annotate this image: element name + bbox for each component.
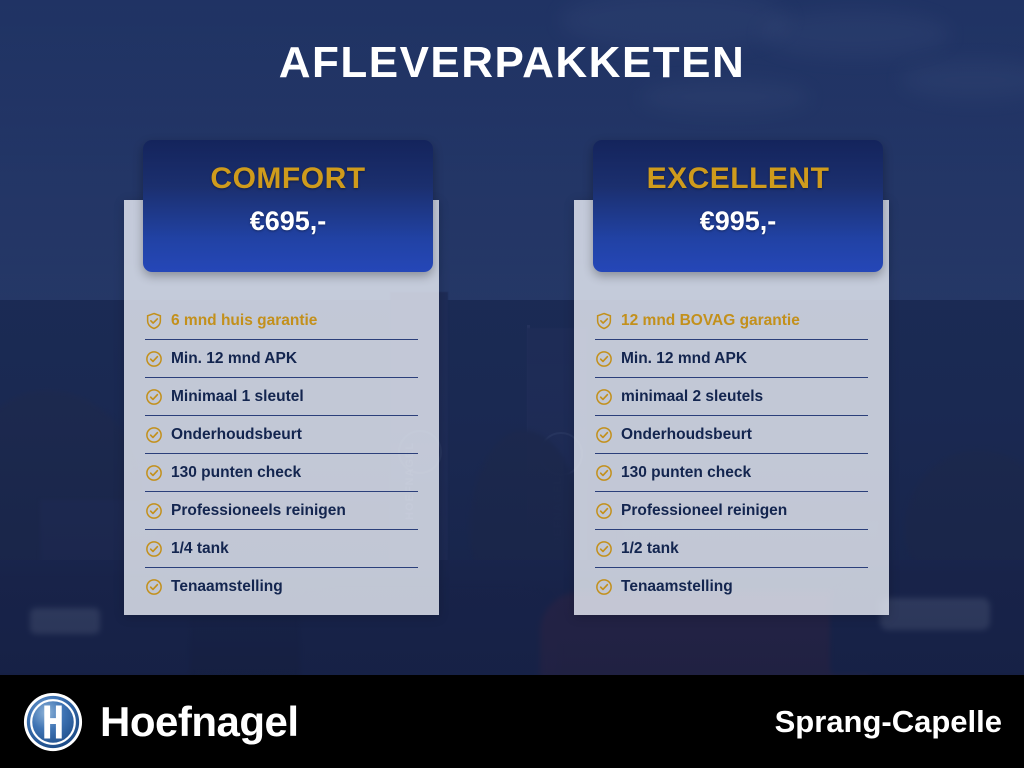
feature-label: Professioneel reinigen [621,502,787,520]
circle-check-icon [145,388,163,406]
list-item: 1/4 tank [145,530,418,568]
list-item: Minimaal 1 sleutel [145,378,418,416]
list-item: Min. 12 mnd APK [145,340,418,378]
feature-label: Tenaamstelling [171,578,283,596]
circle-check-icon [595,578,613,596]
circle-check-icon [595,350,613,368]
flag-text: HOEFNAGEL [552,355,564,555]
circle-check-icon [145,350,163,368]
list-item: 1/2 tank [595,530,868,568]
feature-label: Tenaamstelling [621,578,733,596]
flag-pole [444,370,447,670]
list-item: Onderhoudsbeurt [145,416,418,454]
list-item: Professioneels reinigen [145,492,418,530]
package-card-excellent[interactable]: EXCELLENT €995,- 12 mnd BOVAG garantie M… [574,200,889,615]
circle-check-icon [145,540,163,558]
package-header: EXCELLENT €995,- [593,140,883,272]
feature-label: 1/2 tank [621,540,679,558]
circle-check-icon [145,578,163,596]
hoefnagel-logo-icon [22,691,84,753]
footer-bar: Hoefnagel Sprang-Capelle [0,675,1024,768]
list-item: 6 mnd huis garantie [145,302,418,340]
feature-label: Professioneels reinigen [171,502,346,520]
circle-check-icon [595,426,613,444]
list-item: 130 punten check [145,454,418,492]
brand-block[interactable]: Hoefnagel [22,691,299,753]
package-price: €695,- [143,206,433,237]
feature-label: minimaal 2 sleutels [621,388,763,406]
tree-shape [905,450,1024,600]
package-header: COMFORT €695,- [143,140,433,272]
car-window [880,598,990,630]
feature-list: 12 mnd BOVAG garantie Min. 12 mnd APK mi… [595,302,868,606]
brand-name: Hoefnagel [100,698,299,746]
feature-label: 130 punten check [171,464,301,482]
circle-check-icon [595,540,613,558]
shield-check-icon [595,312,613,330]
tree-shape [0,390,140,590]
feature-label: 6 mnd huis garantie [171,312,317,330]
circle-check-icon [595,464,613,482]
list-item: 130 punten check [595,454,868,492]
circle-check-icon [145,502,163,520]
circle-check-icon [145,464,163,482]
feature-label: 12 mnd BOVAG garantie [621,312,800,330]
circle-check-icon [595,388,613,406]
feature-list: 6 mnd huis garantie Min. 12 mnd APK Mini… [145,302,418,606]
feature-label: Onderhoudsbeurt [621,426,752,444]
feature-label: Onderhoudsbeurt [171,426,302,444]
page-title: AFLEVERPAKKETEN [0,38,1024,88]
feature-label: 130 punten check [621,464,751,482]
car-window [30,608,100,634]
feature-label: 1/4 tank [171,540,229,558]
package-price: €995,- [593,206,883,237]
footer-location: Sprang-Capelle [775,704,1002,740]
list-item: Min. 12 mnd APK [595,340,868,378]
list-item: Tenaamstelling [145,568,418,606]
feature-label: Minimaal 1 sleutel [171,388,304,406]
shield-check-icon [145,312,163,330]
feature-label: Min. 12 mnd APK [171,350,297,368]
tree-shape [470,430,580,615]
package-card-comfort[interactable]: COMFORT €695,- 6 mnd huis garantie Min. … [124,200,439,615]
poster-canvas: HOEFNAGEL HOEFNAGEL AFLEVERPAKKETEN COMF… [0,0,1024,768]
list-item: minimaal 2 sleutels [595,378,868,416]
feature-label: Min. 12 mnd APK [621,350,747,368]
package-name: EXCELLENT [593,162,883,196]
list-item: Professioneel reinigen [595,492,868,530]
list-item: Tenaamstelling [595,568,868,606]
package-name: COMFORT [143,162,433,196]
circle-check-icon [145,426,163,444]
circle-check-icon [595,502,613,520]
list-item: 12 mnd BOVAG garantie [595,302,868,340]
list-item: Onderhoudsbeurt [595,416,868,454]
flag-pole [527,325,530,665]
